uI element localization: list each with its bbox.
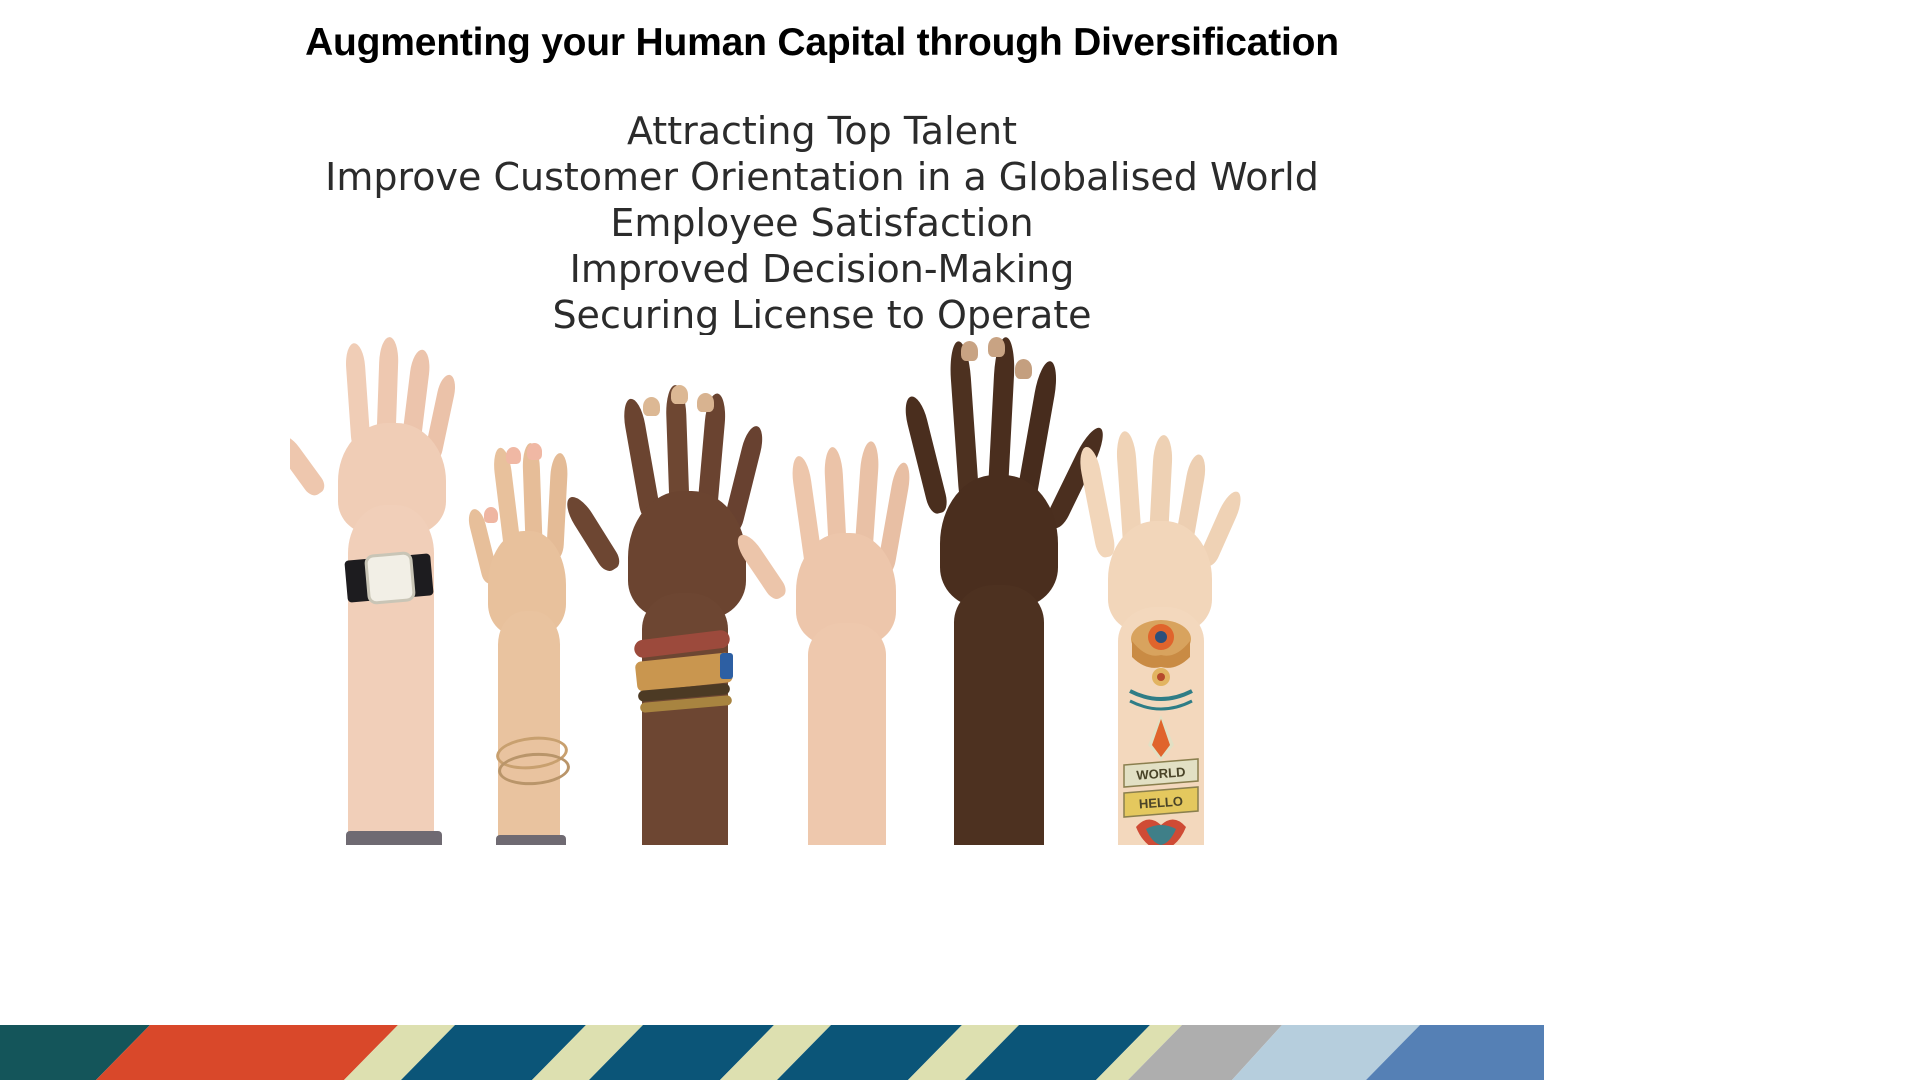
- forearm: [954, 585, 1044, 845]
- bullet-list: Attracting Top Talent Improve Customer O…: [0, 108, 1644, 338]
- forearm: [808, 623, 886, 845]
- chevron-bar-svg: [0, 1025, 1544, 1080]
- fingernail: [1015, 359, 1032, 379]
- fingernail: [643, 397, 660, 416]
- tattoo-sleeve: WORLD HELLO: [1118, 615, 1204, 845]
- finger: [901, 394, 949, 515]
- photo-inner: WORLD HELLO: [290, 335, 1280, 845]
- fingernail: [671, 385, 688, 404]
- forearm: [498, 611, 560, 845]
- fingernail: [988, 337, 1005, 357]
- sleeve: [496, 835, 566, 845]
- finger: [1077, 445, 1117, 559]
- fingernail: [484, 507, 498, 523]
- bullet-line-2: Improve Customer Orientation in a Global…: [0, 154, 1644, 200]
- thumb: [561, 492, 623, 574]
- thumb: [290, 430, 328, 498]
- fingernail: [506, 447, 521, 464]
- slide-canvas: Augmenting your Human Capital through Di…: [0, 0, 1920, 1080]
- raised-diverse-hands-photo: WORLD HELLO: [290, 335, 1280, 845]
- fingernail: [961, 341, 978, 361]
- bracelet-charm: [720, 653, 733, 679]
- sleeve: [346, 831, 442, 845]
- page-title: Augmenting your Human Capital through Di…: [0, 20, 1644, 66]
- svg-text:HELLO: HELLO: [1138, 793, 1183, 811]
- tattoo-artwork-svg: WORLD HELLO: [1118, 615, 1204, 845]
- bullet-line-5: Securing License to Operate: [0, 292, 1644, 338]
- bullet-line-4: Improved Decision-Making: [0, 246, 1644, 292]
- bottom-chevron-stripe-bar: [0, 1025, 1544, 1080]
- bullet-line-3: Employee Satisfaction: [0, 200, 1644, 246]
- fingernail: [527, 443, 542, 460]
- wristwatch-face: [364, 551, 416, 605]
- bullet-line-1: Attracting Top Talent: [0, 108, 1644, 154]
- right-white-gutter: [1644, 0, 1920, 1080]
- fingernail: [697, 393, 714, 412]
